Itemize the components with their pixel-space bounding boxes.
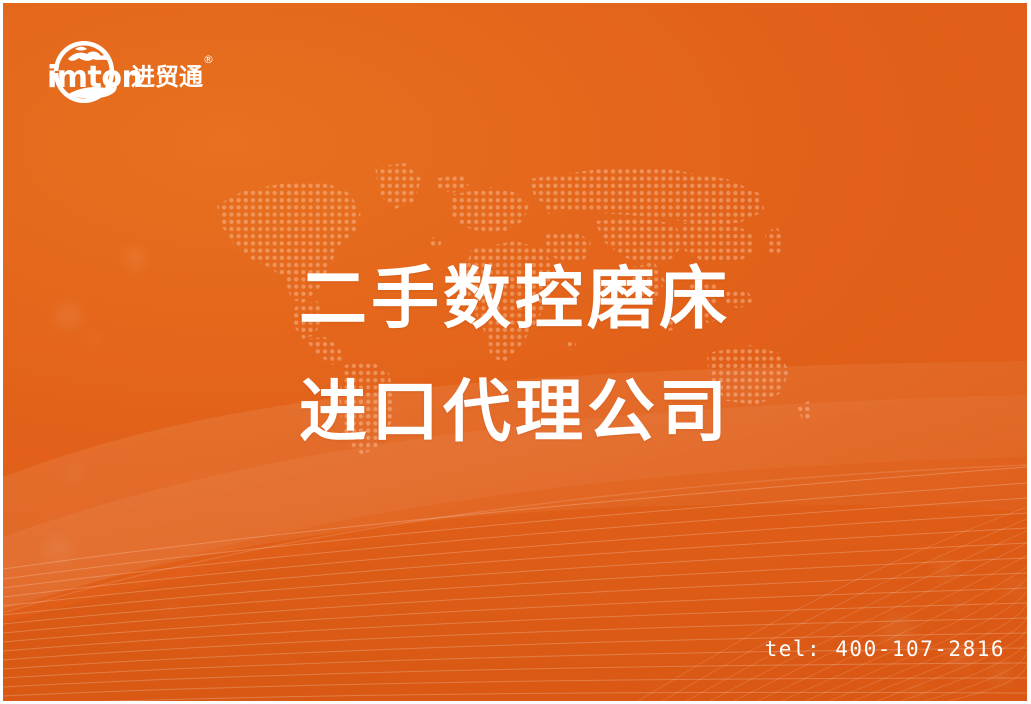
promo-banner: imton 进贸通 ® 二手数控磨床 进口代理公司 tel: 400-107-2… [0,0,1031,704]
svg-text:imton: imton [47,60,142,95]
svg-text:进贸通: 进贸通 [131,63,203,91]
headline-line-2: 进口代理公司 [3,356,1027,469]
headline-block: 二手数控磨床 进口代理公司 [3,243,1027,469]
headline-line-1: 二手数控磨床 [3,243,1027,356]
line-texture-decoration [3,451,1027,701]
svg-text:®: ® [203,53,214,66]
banner-stage: imton 进贸通 ® 二手数控磨床 进口代理公司 tel: 400-107-2… [3,3,1027,701]
telephone-text: tel: 400-107-2816 [765,637,1005,661]
globe-swoosh-icon: imton 进贸通 ® [45,37,221,107]
brand-logo[interactable]: imton 进贸通 ® [45,37,221,107]
